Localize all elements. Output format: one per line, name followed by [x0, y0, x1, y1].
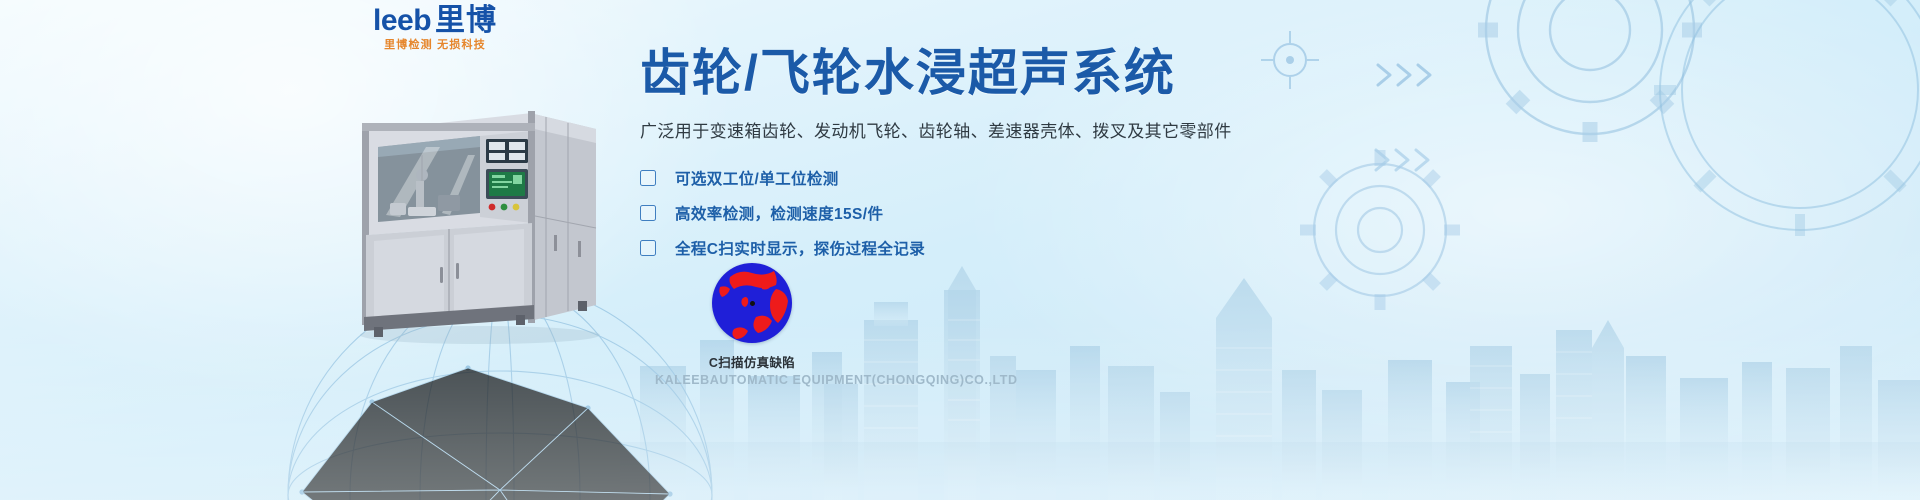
- promo-banner: leeb里博 里博检测 无损科技: [0, 0, 1920, 500]
- hero-copy: 齿轮/飞轮水浸超声系统 广泛用于变速箱齿轮、发动机飞轮、齿轮轴、差速器壳体、拨叉…: [640, 45, 1280, 265]
- logo-latin: leeb: [373, 4, 431, 37]
- page-title: 齿轮/飞轮水浸超声系统: [640, 45, 1280, 101]
- feature-label: 高效率检测，检测速度15S/件: [675, 202, 883, 224]
- gear-decoration-large: [1380, 0, 1800, 215]
- company-name: KALEEBAUTOMATIC EQUIPMENT(CHONGQING)CO.,…: [655, 373, 1018, 387]
- hero-subtitle: 广泛用于变速箱齿轮、发动机飞轮、齿轮轴、差速器壳体、拨叉及其它零部件: [640, 117, 1280, 142]
- logo-wordmark: leeb里博: [345, 6, 525, 36]
- machine-photo: [330, 95, 610, 345]
- cscan-sample: C扫描仿真缺陷: [672, 263, 832, 371]
- feature-label: 全程C扫实时显示，探伤过程全记录: [675, 237, 925, 259]
- checkbox-icon: [640, 205, 656, 221]
- list-item[interactable]: 全程C扫实时显示，探伤过程全记录: [640, 230, 1280, 265]
- chevron-arrows-decoration: [1370, 55, 1450, 100]
- cscan-image: [712, 263, 792, 343]
- list-item[interactable]: 可选双工位/单工位检测: [640, 160, 1280, 195]
- cscan-caption: C扫描仿真缺陷: [672, 352, 832, 371]
- list-item[interactable]: 高效率检测，检测速度15S/件: [640, 195, 1280, 230]
- logo-tagline: 里博检测 无损科技: [345, 40, 525, 51]
- cscan-center-marker: [750, 301, 755, 306]
- checkbox-icon: [640, 170, 656, 186]
- gear-decoration-ring: [1630, 0, 1920, 245]
- checkbox-icon: [640, 240, 656, 256]
- leeb-logo[interactable]: leeb里博 里博检测 无损科技: [345, 6, 525, 51]
- light-wash-bottom: [0, 320, 1920, 500]
- gear-decoration-small: [1270, 120, 1490, 345]
- chevron-arrows-decoration-2: [1368, 140, 1448, 185]
- logo-chinese: 里博: [435, 4, 497, 37]
- feature-label: 可选双工位/单工位检测: [675, 167, 839, 189]
- feature-list: 可选双工位/单工位检测 高效率检测，检测速度15S/件 全程C扫实时显示，探伤过…: [640, 160, 1280, 265]
